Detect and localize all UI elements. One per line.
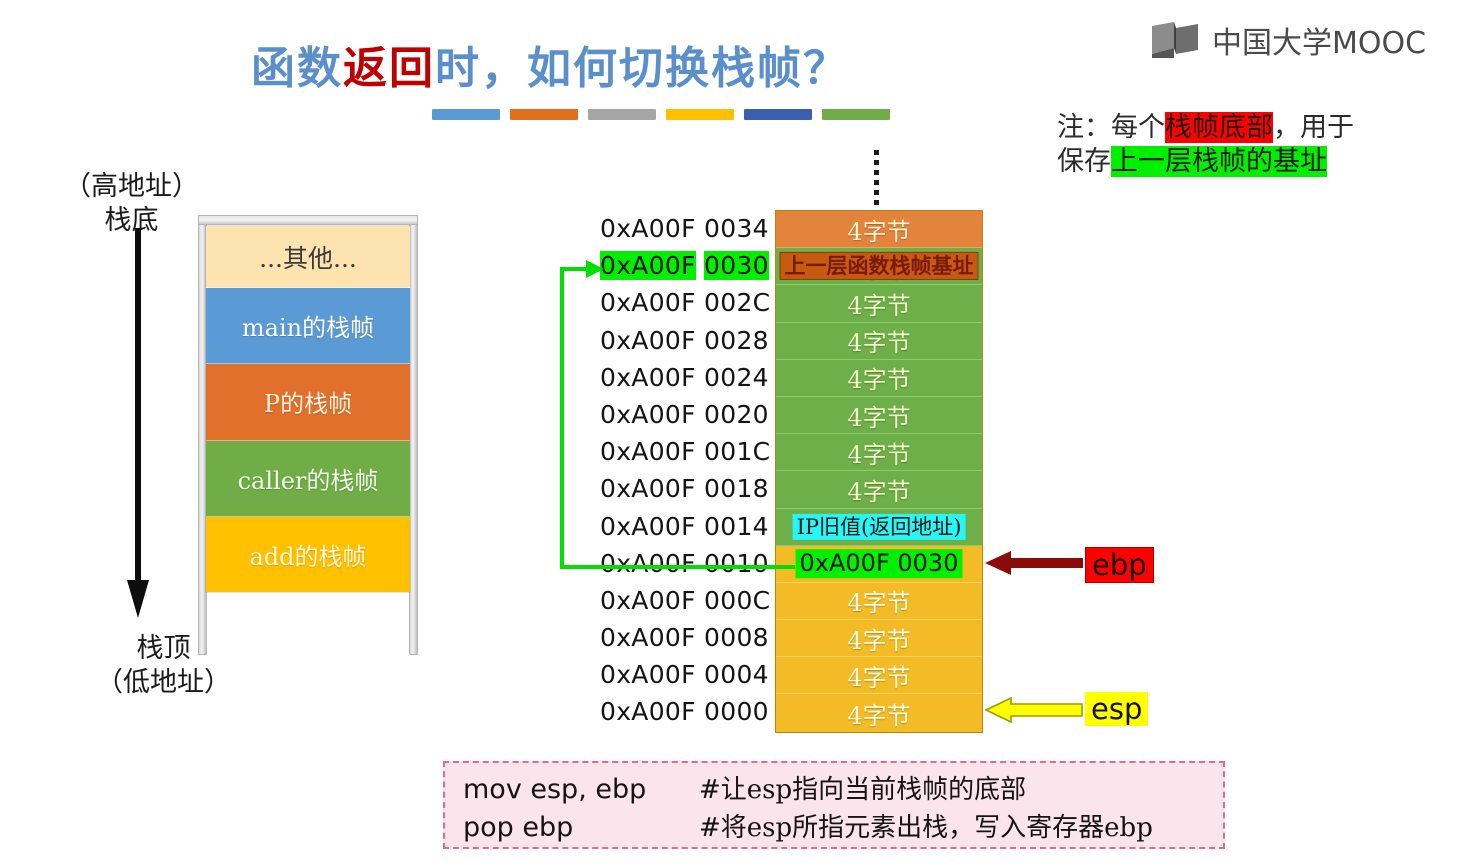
ebp-arrow-icon	[985, 547, 1083, 579]
bar-gray	[588, 109, 656, 120]
ellipsis-dot	[874, 180, 879, 185]
stack-frame-1: main的栈帧	[206, 288, 410, 364]
memory-cell: 4字节	[776, 434, 982, 471]
saved-frame-base-tag: 上一层函数栈帧基址	[780, 252, 979, 280]
memory-cell: 4字节	[776, 657, 982, 694]
memory-cell: IP旧值(返回地址)	[776, 509, 982, 546]
memory-cell-value: 4字节	[847, 435, 910, 470]
memory-cell-value: 4字节	[847, 212, 910, 247]
page-title: 函数返回时，如何切换栈帧？	[0, 32, 1100, 96]
stack-board: ...其他...main的栈帧P的栈帧caller的栈帧add的栈帧	[198, 215, 418, 655]
memory-cell-value: 4字节	[847, 621, 910, 656]
memory-address-label: 0xA00F 0000	[600, 693, 772, 730]
board-top-rail	[198, 215, 418, 225]
instruction-panel: mov esp, ebp#让esp指向当前栈帧的底部pop ebp#将esp所指…	[443, 761, 1225, 849]
memory-cell: 4字节	[776, 583, 982, 620]
instruction-comment: #将esp所指元素出栈，写入寄存器ebp	[699, 807, 1153, 844]
memory-address-label: 0xA00F 0030	[600, 247, 772, 284]
low-address-label: （低地址）	[96, 666, 231, 700]
memory-cell-value: 4字节	[847, 658, 910, 693]
memory-table: 4字节4字节上一层函数栈帧基址4字节4字节4字节4字节4字节4字节IP旧值(返回…	[775, 210, 983, 733]
note-line1-a: 注：每个	[1057, 112, 1165, 143]
address-text: 0xA00F 0014	[600, 512, 769, 541]
book-mark-icon	[1150, 20, 1202, 60]
memory-address-label: 0xA00F 000C	[600, 582, 772, 619]
memory-cell-value: 4字节	[847, 696, 910, 731]
address-text: 0xA00F 0000	[600, 697, 769, 726]
memory-cell-value: 4字节	[847, 323, 910, 358]
note-line-2: 保存上一层栈帧的基址	[1057, 145, 1354, 179]
bar-blue-light	[432, 109, 500, 120]
address-text: 0xA00F 002C	[600, 288, 770, 317]
address-highlight-part-1: 0xA00F	[600, 251, 696, 280]
stack-frame-4: add的栈帧	[206, 517, 410, 592]
title-part-3: 时，如何切换栈帧？	[435, 43, 849, 94]
address-column: 0xA00F 00340xA00F 00300xA00F 002C0xA00F …	[600, 210, 772, 731]
memory-address-label: 0xA00F 0034	[600, 210, 772, 247]
bar-green	[822, 109, 890, 120]
ellipsis-dot	[874, 190, 879, 195]
ebp-register-label: ebp	[1085, 547, 1154, 583]
memory-cell: 4字节上一层函数栈帧基址	[776, 248, 982, 285]
address-text: 0xA00F 0008	[600, 623, 769, 652]
memory-address-label: 0xA00F 001C	[600, 433, 772, 470]
address-text: 0xA00F 0028	[600, 326, 769, 355]
memory-address-label: 0xA00F 0010	[600, 545, 772, 582]
memory-cell-value: 4字节	[847, 360, 910, 395]
saved-ebp-value-tag: 0xA00F 0030	[796, 549, 963, 579]
stack-frame-label: ...其他...	[259, 239, 357, 275]
note-text: 注：每个栈帧底部，用于 保存上一层栈帧的基址	[1057, 111, 1354, 179]
title-part-1: 函数	[251, 43, 343, 94]
logo-text: 中国大学MOOC	[1212, 18, 1426, 62]
stack-frame-label: add的栈帧	[249, 537, 366, 572]
address-text: 0xA00F 0004	[600, 660, 769, 689]
memory-address-label: 0xA00F 002C	[600, 284, 772, 321]
memory-address-label: 0xA00F 0020	[600, 396, 772, 433]
address-text: 0xA00F 001C	[600, 437, 770, 466]
high-address-label: （高地址）	[64, 170, 199, 204]
memory-cell: 0xA00F 0030	[776, 546, 982, 583]
return-address-tag: IP旧值(返回地址)	[793, 514, 966, 540]
stack-frame-label: P的栈帧	[264, 384, 352, 419]
ellipsis-dot	[874, 150, 879, 155]
esp-register-label: esp	[1085, 692, 1148, 726]
memory-cell-value: 4字节	[847, 472, 910, 507]
memory-address-label: 0xA00F 0018	[600, 470, 772, 507]
memory-address-label: 0xA00F 0008	[600, 619, 772, 656]
title-part-2: 返回	[343, 43, 435, 94]
address-text: 0xA00F 0024	[600, 363, 769, 392]
ellipsis-dot	[874, 200, 879, 205]
memory-address-label: 0xA00F 0028	[600, 322, 772, 359]
memory-cell: 4字节	[776, 694, 982, 731]
note-line1-b: ，用于	[1273, 112, 1354, 143]
instruction-row: mov esp, ebp#让esp指向当前栈帧的底部	[463, 769, 1205, 807]
instruction-comment: #让esp指向当前栈帧的底部	[699, 769, 1026, 806]
memory-cell-value: 4字节	[847, 583, 910, 618]
address-highlight-part-2: 0030	[704, 251, 769, 280]
ellipsis-dot	[874, 160, 879, 165]
memory-cell: 4字节	[776, 285, 982, 322]
memory-cell: 4字节	[776, 360, 982, 397]
address-text: 0xA00F 0020	[600, 400, 769, 429]
memory-cell: 4字节	[776, 397, 982, 434]
address-text: 0xA00F 0034	[600, 214, 769, 243]
note-line2-a: 保存	[1057, 146, 1111, 177]
memory-address-label: 0xA00F 0004	[600, 656, 772, 693]
note-line-1: 注：每个栈帧底部，用于	[1057, 111, 1354, 145]
vertical-ellipsis-icon	[874, 150, 879, 205]
note-highlight-red: 栈帧底部	[1165, 112, 1273, 143]
bar-blue-dark	[744, 109, 812, 120]
memory-cell: 4字节	[776, 620, 982, 657]
bar-gold	[666, 109, 734, 120]
mooc-logo: 中国大学MOOC	[1150, 18, 1426, 62]
stack-frame-label: caller的栈帧	[238, 461, 379, 496]
memory-cell: 4字节	[776, 211, 982, 248]
memory-address-label: 0xA00F 0024	[600, 359, 772, 396]
note-highlight-green: 上一层栈帧的基址	[1111, 146, 1327, 177]
stack-frame-0: ...其他...	[206, 226, 410, 288]
memory-address-label: 0xA00F 0014	[600, 508, 772, 545]
stack-frame-3: caller的栈帧	[206, 441, 410, 517]
instruction-row: pop ebp#将esp所指元素出栈，写入寄存器ebp	[463, 807, 1205, 845]
ellipsis-dot	[874, 170, 879, 175]
memory-cell: 4字节	[776, 471, 982, 508]
stack-frame-list: ...其他...main的栈帧P的栈帧caller的栈帧add的栈帧	[205, 225, 411, 593]
title-underline-bars	[432, 109, 890, 120]
address-text: 0xA00F 0010	[600, 549, 769, 578]
memory-cell-value: 4字节	[847, 286, 910, 321]
instruction-opcode: mov esp, ebp	[463, 774, 699, 805]
bar-orange	[510, 109, 578, 120]
stack-frame-2: P的栈帧	[206, 364, 410, 440]
stack-frame-label: main的栈帧	[242, 308, 374, 343]
instruction-opcode: pop ebp	[463, 812, 699, 843]
address-text: 0xA00F 000C	[600, 586, 770, 615]
memory-cell-value: 4字节	[847, 398, 910, 433]
address-text: 0xA00F 0018	[600, 474, 769, 503]
down-arrow-icon	[126, 228, 150, 620]
esp-arrow-icon	[985, 694, 1083, 726]
memory-cell: 4字节	[776, 323, 982, 360]
